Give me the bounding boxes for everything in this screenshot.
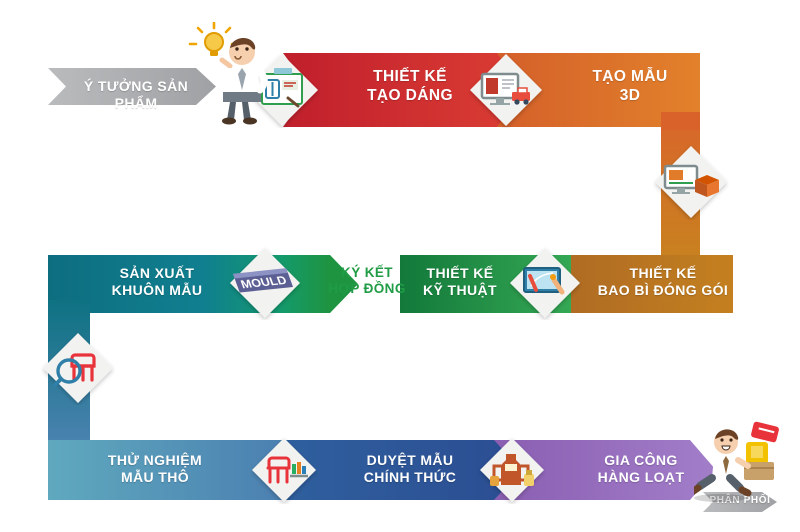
step-7-label: DUYỆT MẪU CHÍNH THỨC	[330, 452, 490, 486]
step-2-label: TẠO MẪU 3D	[540, 68, 720, 106]
magnifier-chair-icon	[41, 331, 115, 405]
step-4-label: THIẾT KẾ KỸ THUẬT	[400, 265, 520, 299]
step-3-label: THIẾT KẾ BAO BÌ ĐÓNG GÓI	[578, 265, 748, 299]
chair-approve-icon	[250, 436, 318, 504]
monitor-box-icon	[653, 144, 729, 220]
process-flow-diagram: MOULD	[0, 0, 800, 532]
step-5-label: SẢN XUẤT KHUÔN MẪU	[72, 265, 242, 299]
step-1-label: THIẾT KẾ TẠO DÁNG	[320, 68, 500, 106]
delivery-man-character	[694, 420, 794, 506]
step-6-label: THỬ NGHIỆM MẪU THÔ	[70, 452, 240, 486]
businessman-idea-character	[186, 22, 282, 126]
contract-label: KÝ KẾT HỢP ĐỒNG	[322, 265, 412, 298]
